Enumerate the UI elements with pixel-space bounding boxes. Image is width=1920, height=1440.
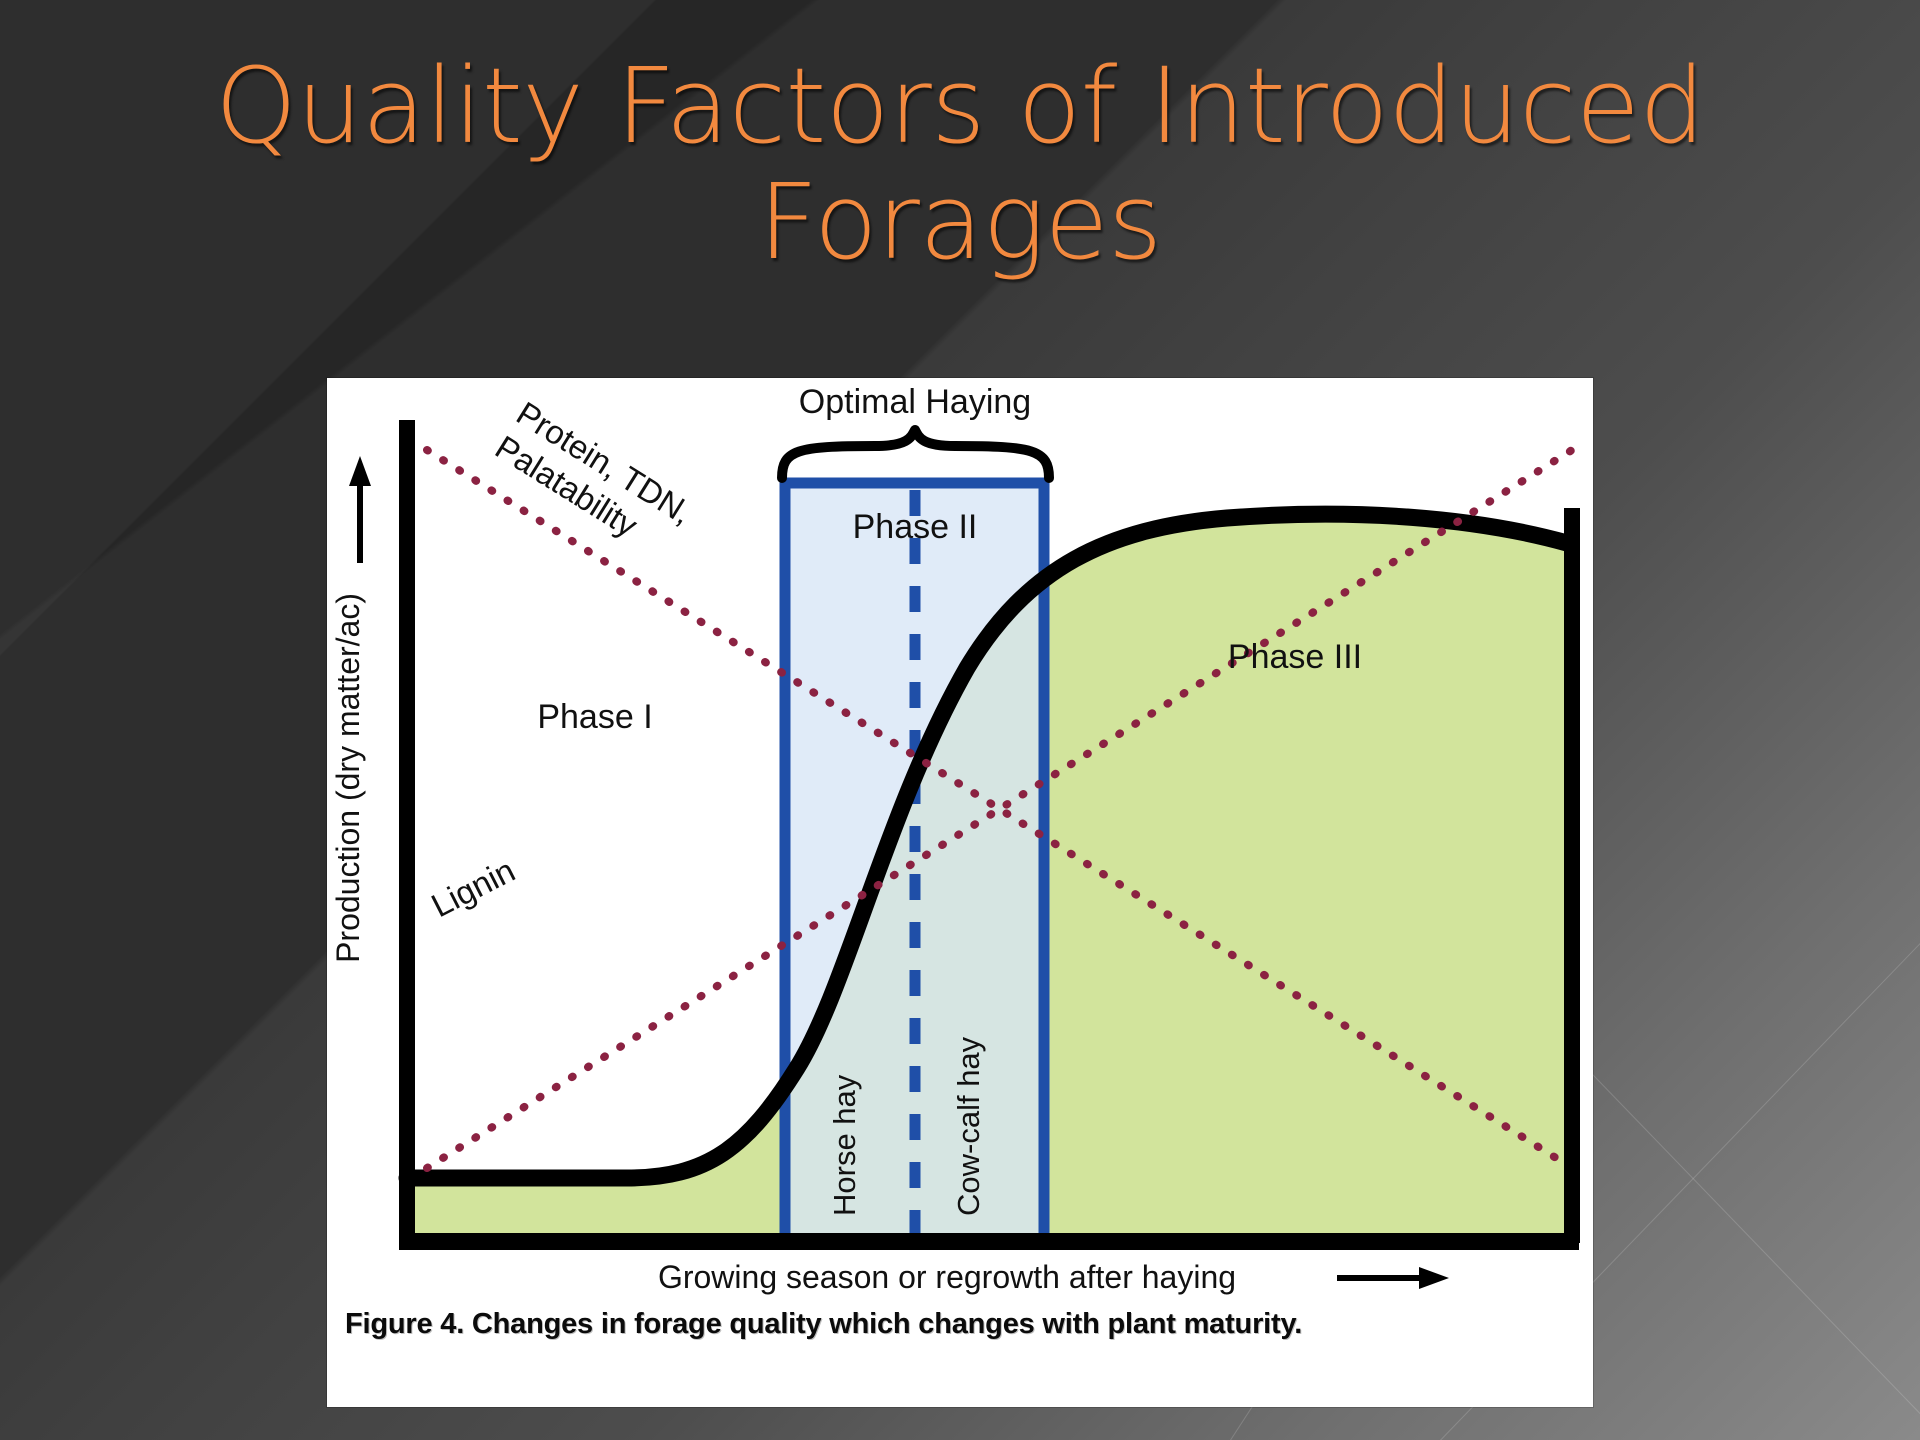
figure-panel: Production (dry matter/ac) Optimal Hayin…: [327, 378, 1593, 1407]
optimal-haying-bracket: [782, 430, 1049, 478]
slide: Quality Factors of Introduced Forages: [0, 0, 1920, 1440]
horse-hay-label: Horse hay: [827, 1074, 862, 1216]
forage-quality-chart: Production (dry matter/ac) Optimal Hayin…: [327, 378, 1593, 1298]
chart-area: Production (dry matter/ac) Optimal Hayin…: [327, 378, 1593, 1298]
figure-caption: Figure 4. Changes in forage quality whic…: [345, 1303, 1555, 1345]
optimal-haying-label: Optimal Haying: [799, 383, 1031, 421]
x-axis-arrow-icon: [1337, 1267, 1449, 1289]
y-axis-bar: [399, 420, 415, 1242]
background-diagonal-line: [1559, 1040, 1920, 1440]
protein-tdn-palatability-label: Protein, TDN, Palatability: [489, 394, 699, 565]
phase-2-label: Phase II: [853, 508, 978, 546]
phase-3-label: Phase III: [1228, 638, 1362, 676]
phase-1-label: Phase I: [537, 698, 652, 736]
x-axis-label: Growing season or regrowth after haying: [658, 1259, 1236, 1295]
lignin-label: Lignin: [425, 851, 520, 924]
y-axis-label: Production (dry matter/ac): [330, 593, 366, 963]
right-axis-bar: [1564, 508, 1580, 1243]
cow-calf-hay-label: Cow-calf hay: [951, 1036, 986, 1216]
x-axis-bar: [399, 1233, 1579, 1250]
y-axis-arrow-icon: [349, 456, 371, 563]
slide-title: Quality Factors of Introduced Forages: [120, 48, 1800, 281]
